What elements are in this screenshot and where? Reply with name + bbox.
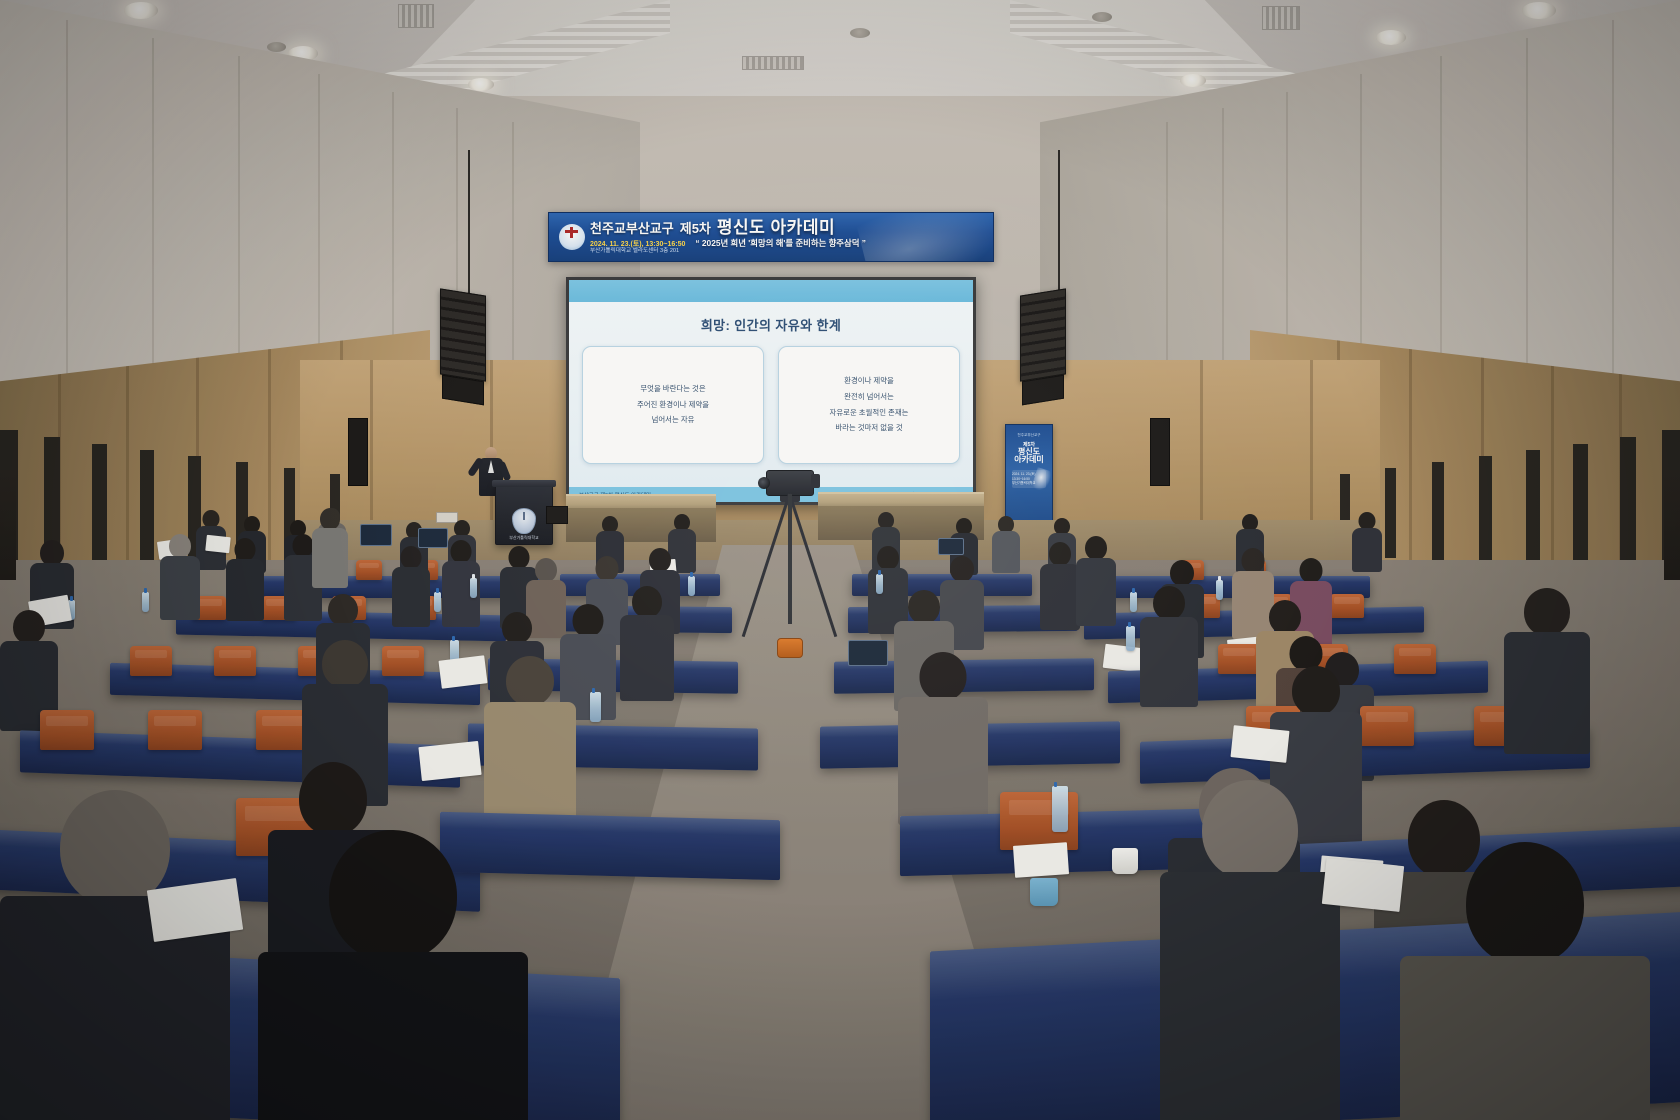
slide-top-accent-bar: 희망의 순례자들 (569, 280, 973, 302)
attendee-torso (1400, 956, 1650, 1120)
handout-paper (1322, 858, 1404, 912)
attendee-torso (312, 528, 348, 588)
attendee (484, 656, 576, 826)
tripod-leg (788, 494, 837, 638)
slide-card-line: 주어진 환경이나 제약을 (637, 401, 709, 410)
attendee-foreground (1400, 842, 1650, 1120)
side-door-left[interactable] (0, 470, 16, 580)
attendee-head (1202, 780, 1298, 880)
tripod-leg (742, 494, 791, 638)
handout-paper (1230, 725, 1289, 763)
attendee-head (596, 556, 619, 581)
acoustic-strip-right (1479, 456, 1492, 562)
attendee (620, 586, 674, 698)
banner-title: 평신도 아카데미 (717, 219, 835, 236)
attendee-head (950, 556, 974, 582)
line-array-speaker-right (1020, 288, 1066, 381)
chair (1360, 706, 1414, 746)
downlight (124, 2, 158, 19)
attendee-head (506, 656, 554, 706)
slide-card-line: 넘어서는 자유 (652, 416, 695, 425)
slide-card: 무엇을 바란다는 것은 주어진 환경이나 제약을 넘어서는 자유 (582, 346, 764, 464)
attendee-foreground (1160, 780, 1340, 1120)
attendee (1504, 588, 1590, 748)
attendee-head (502, 612, 532, 644)
slide-card-line: 완전히 넘어서는 (844, 393, 894, 402)
downlight-off (850, 28, 870, 38)
attendee-head (649, 548, 671, 572)
handout-paper (1103, 644, 1144, 672)
attendee-torso (992, 531, 1020, 573)
attendee-head (908, 590, 940, 624)
attendee (392, 546, 430, 624)
downlight (468, 78, 494, 91)
slide-card-line: 환경이나 제약을 (844, 377, 894, 386)
chair (40, 710, 94, 750)
banner-subtitle: “ 2025년 희년 '희망의 해'를 준비하는 향주삼덕 ” (695, 239, 866, 247)
attendee-torso (226, 559, 264, 621)
downlight (1522, 2, 1556, 19)
attendee-head (1242, 548, 1265, 573)
attendee-head (329, 830, 457, 962)
water-bottle (590, 692, 601, 722)
chair (356, 560, 382, 580)
attendee-head (1049, 542, 1071, 566)
acoustic-strip-right (1526, 450, 1540, 564)
chair (1218, 644, 1260, 674)
slide-title: 희망: 인간의 자유와 한계 (581, 315, 961, 334)
event-banner: 천주교부산교구 제5차 평신도 아카데미 2024. 11. 23.(토), 1… (548, 212, 994, 262)
attendee-head (322, 640, 368, 688)
water-bottle (434, 592, 441, 612)
water-bottle (1052, 786, 1068, 832)
podium: 부산가톨릭대학교 (495, 483, 553, 545)
attendee-head (299, 762, 367, 836)
banner-text-group: 천주교부산교구 제5차 평신도 아카데미 2024. 11. 23.(토), 1… (590, 219, 866, 255)
speaker-hanging-wire (468, 150, 470, 295)
attendee-torso (1160, 872, 1340, 1120)
chair (148, 710, 202, 750)
attendee-head (1292, 666, 1340, 716)
chair (1330, 594, 1364, 618)
tripod-center-column (788, 494, 792, 624)
paper-cup (1030, 878, 1058, 906)
side-door-right[interactable] (1664, 470, 1680, 580)
attendee-head (401, 546, 422, 569)
line-array-speaker-left (440, 288, 486, 381)
attendee (992, 516, 1020, 572)
attendee-head (1269, 600, 1301, 634)
downlight (1180, 74, 1206, 87)
slide-card: 환경이나 제약을 완전히 넘어서는 자유로운 초월적인 존재는 바라는 것마저 … (778, 346, 960, 464)
video-camera-icon (766, 470, 814, 496)
acoustic-strip-left (140, 450, 154, 564)
tablet-device (848, 640, 888, 666)
acoustic-strip-right (1573, 444, 1588, 566)
handout-paper (1013, 842, 1069, 878)
camera-lens-icon (758, 477, 770, 489)
attendee (1352, 512, 1382, 570)
attendee (226, 538, 264, 618)
attendee-torso (1352, 528, 1382, 572)
handout-paper (418, 741, 481, 781)
ceiling-vent-left (398, 4, 434, 28)
attendee-head (1300, 558, 1323, 583)
wall-speaker-right (1150, 418, 1170, 486)
attendee-head (320, 508, 340, 530)
speaker-hanging-wire (1058, 150, 1060, 295)
rollup-title-line2: 아카데미 (1014, 456, 1043, 464)
water-bottle (1130, 592, 1137, 612)
attendee-head (920, 652, 967, 701)
sandbag-weight-icon (777, 638, 803, 658)
podium-top-surface (492, 480, 556, 487)
wall-speaker-left (348, 418, 368, 486)
attendee-torso (392, 567, 430, 627)
ceiling-vent-right (1262, 6, 1300, 30)
attendee-torso (1140, 617, 1198, 707)
chair (130, 646, 172, 676)
attendee-torso (1504, 632, 1590, 754)
laptop-screen (360, 524, 392, 546)
attendee (160, 534, 200, 618)
downlight-off (267, 42, 286, 52)
attendee-torso (160, 556, 200, 620)
paper-cup (1112, 848, 1138, 874)
attendee-torso (1040, 564, 1080, 630)
slide-card-line: 자유로운 초월적인 존재는 (830, 409, 909, 418)
attendee (312, 508, 348, 586)
downlight-off (1092, 12, 1112, 22)
acoustic-strip-left (92, 444, 107, 566)
attendee-torso (620, 615, 674, 701)
rollup-kicker: 천주교부산교구 (1017, 433, 1040, 438)
banner-organization: 천주교부산교구 (590, 222, 674, 235)
attendee (1140, 586, 1198, 704)
projected-slide: 희망의 순례자들 희망: 인간의 자유와 한계 무엇을 바란다는 것은 주어진 … (569, 280, 973, 502)
room: 천주교부산교구 제5차 평신도 아카데미 2024. 11. 23.(토), 1… (0, 0, 1680, 1120)
chair (382, 646, 424, 676)
attendee-head (1466, 842, 1584, 966)
attendee-torso (898, 697, 988, 825)
attendee-torso (1076, 558, 1116, 626)
attendee-head (877, 546, 899, 570)
water-bottle (688, 576, 695, 596)
attendee-torso (258, 952, 528, 1120)
slide-body: 희망: 인간의 자유와 한계 무엇을 바란다는 것은 주어진 환경이나 제약을 … (569, 302, 973, 487)
camera-viewfinder-icon (811, 474, 820, 488)
diocese-logo-icon (559, 224, 585, 250)
acoustic-strip-right (1620, 437, 1636, 567)
stage-monitor (546, 506, 568, 524)
camera-tripod-rig (735, 470, 845, 660)
attendee-head (632, 586, 662, 618)
attendee-head (535, 558, 557, 582)
water-bottle (876, 574, 883, 594)
attendee-head (451, 540, 472, 563)
attendee-head (573, 604, 604, 637)
attendee (1040, 542, 1080, 626)
chair (214, 646, 256, 676)
slide-card-line: 바라는 것마저 없을 것 (835, 424, 902, 433)
slide-card-group: 무엇을 바란다는 것은 주어진 환경이나 제약을 넘어서는 자유 환경이나 제약… (581, 346, 961, 464)
acoustic-strip-right (1432, 462, 1444, 560)
lecture-hall-photo: 천주교부산교구 제5차 평신도 아카데미 2024. 11. 23.(토), 1… (0, 0, 1680, 1120)
attendee-head (1170, 560, 1194, 586)
banner-place: 부산가톨릭대학교 벨라도센터 3층 201 (590, 249, 679, 255)
tablet-device (938, 538, 964, 555)
water-bottle (470, 578, 477, 598)
attendee-head (293, 534, 314, 557)
attendee-head (1524, 588, 1570, 636)
attendee-head (235, 538, 256, 561)
attendee-head (169, 534, 191, 558)
acoustic-strip-right (1385, 468, 1396, 558)
ceiling-vent-center (742, 56, 804, 70)
attendee-head (13, 610, 45, 644)
water-bottle (1216, 580, 1223, 600)
slide-card-line: 무엇을 바란다는 것은 (640, 385, 705, 394)
attendee-foreground (258, 830, 528, 1120)
banner-edition: 제5차 (680, 222, 711, 235)
water-bottle (142, 592, 149, 612)
podium-label: 부산가톨릭대학교 (496, 535, 552, 541)
banner-dove-graphic-icon (854, 212, 994, 262)
attendee-head (328, 594, 358, 626)
attendee-head (1085, 536, 1107, 560)
attendee-foreground (0, 790, 230, 1120)
chair (1394, 644, 1436, 674)
attendee (898, 652, 988, 820)
attendee-head (1153, 586, 1185, 620)
water-bottle (1126, 626, 1135, 651)
university-crest-icon (512, 508, 536, 534)
attendee (1076, 536, 1116, 622)
downlight (1376, 30, 1406, 45)
handout-paper (438, 655, 487, 688)
